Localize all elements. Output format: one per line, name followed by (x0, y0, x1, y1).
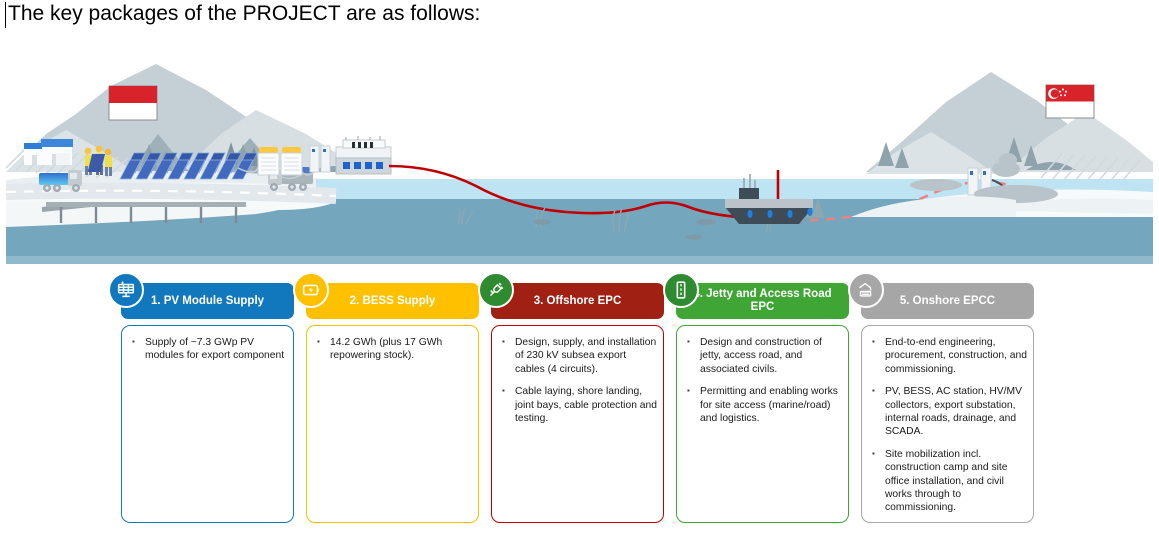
title-text-cursor (5, 2, 6, 28)
list-item: End-to-end engineering, procurement, con… (868, 336, 1027, 376)
list-item: Permitting and enabling works for site a… (683, 385, 842, 425)
package-header-onshore-epcc[interactable]: 5. Onshore EPCC (861, 283, 1034, 319)
project-landscape-illustration (6, 42, 1153, 264)
list-item: Cable laying, shore landing, joint bays,… (498, 385, 657, 425)
solar-panel-icon (108, 272, 144, 308)
indonesia-flag (109, 86, 157, 120)
package-body-onshore-epcc: End-to-end engineering, procurement, con… (861, 325, 1034, 523)
package-header-offshore-epc[interactable]: 3. Offshore EPC (491, 283, 664, 319)
package-body-pv-module-supply: Supply of ~7.3 GWp PV modules for export… (121, 325, 294, 523)
road-icon (663, 272, 699, 308)
package-header-jetty-access-road-epc[interactable]: 4. Jetty and Access Road EPC (676, 283, 849, 319)
bullet-list: End-to-end engineering, procurement, con… (868, 336, 1027, 515)
package-cards-strip: 1. PV Module Supply Supply of ~7.3 GWp P… (0, 272, 1159, 532)
list-item: Design, supply, and installation of 230 … (498, 336, 657, 376)
package-body-jetty-access-road-epc: Design and construction of jetty, access… (676, 325, 849, 523)
package-header-pv-module-supply[interactable]: 1. PV Module Supply (121, 283, 294, 319)
list-item: Design and construction of jetty, access… (683, 336, 842, 376)
singapore-flag (1046, 85, 1094, 118)
bullet-list: 14.2 GWh (plus 17 GWh repowering stock). (313, 336, 472, 363)
bullet-list: Supply of ~7.3 GWp PV modules for export… (128, 336, 287, 363)
list-item: Supply of ~7.3 GWp PV modules for export… (128, 336, 287, 363)
battery-charge-icon (293, 272, 329, 308)
truck-left (39, 170, 82, 192)
converter-station (336, 136, 391, 174)
bullet-list: Design and construction of jetty, access… (683, 336, 842, 425)
bullet-list: Design, supply, and installation of 230 … (498, 336, 657, 425)
page-title: The key packages of the PROJECT are as f… (8, 2, 480, 26)
subsea-plug-icon (478, 272, 514, 308)
package-body-offshore-epc: Design, supply, and installation of 230 … (491, 325, 664, 523)
package-header-bess-supply[interactable]: 2. BESS Supply (306, 283, 479, 319)
list-item: PV, BESS, AC station, HV/MV collectors, … (868, 385, 1027, 439)
list-item: 14.2 GWh (plus 17 GWh repowering stock). (313, 336, 472, 363)
list-item: Site mobilization incl. construction cam… (868, 448, 1027, 515)
package-body-bess-supply: 14.2 GWh (plus 17 GWh repowering stock). (306, 325, 479, 523)
excavator-icon (848, 272, 884, 308)
